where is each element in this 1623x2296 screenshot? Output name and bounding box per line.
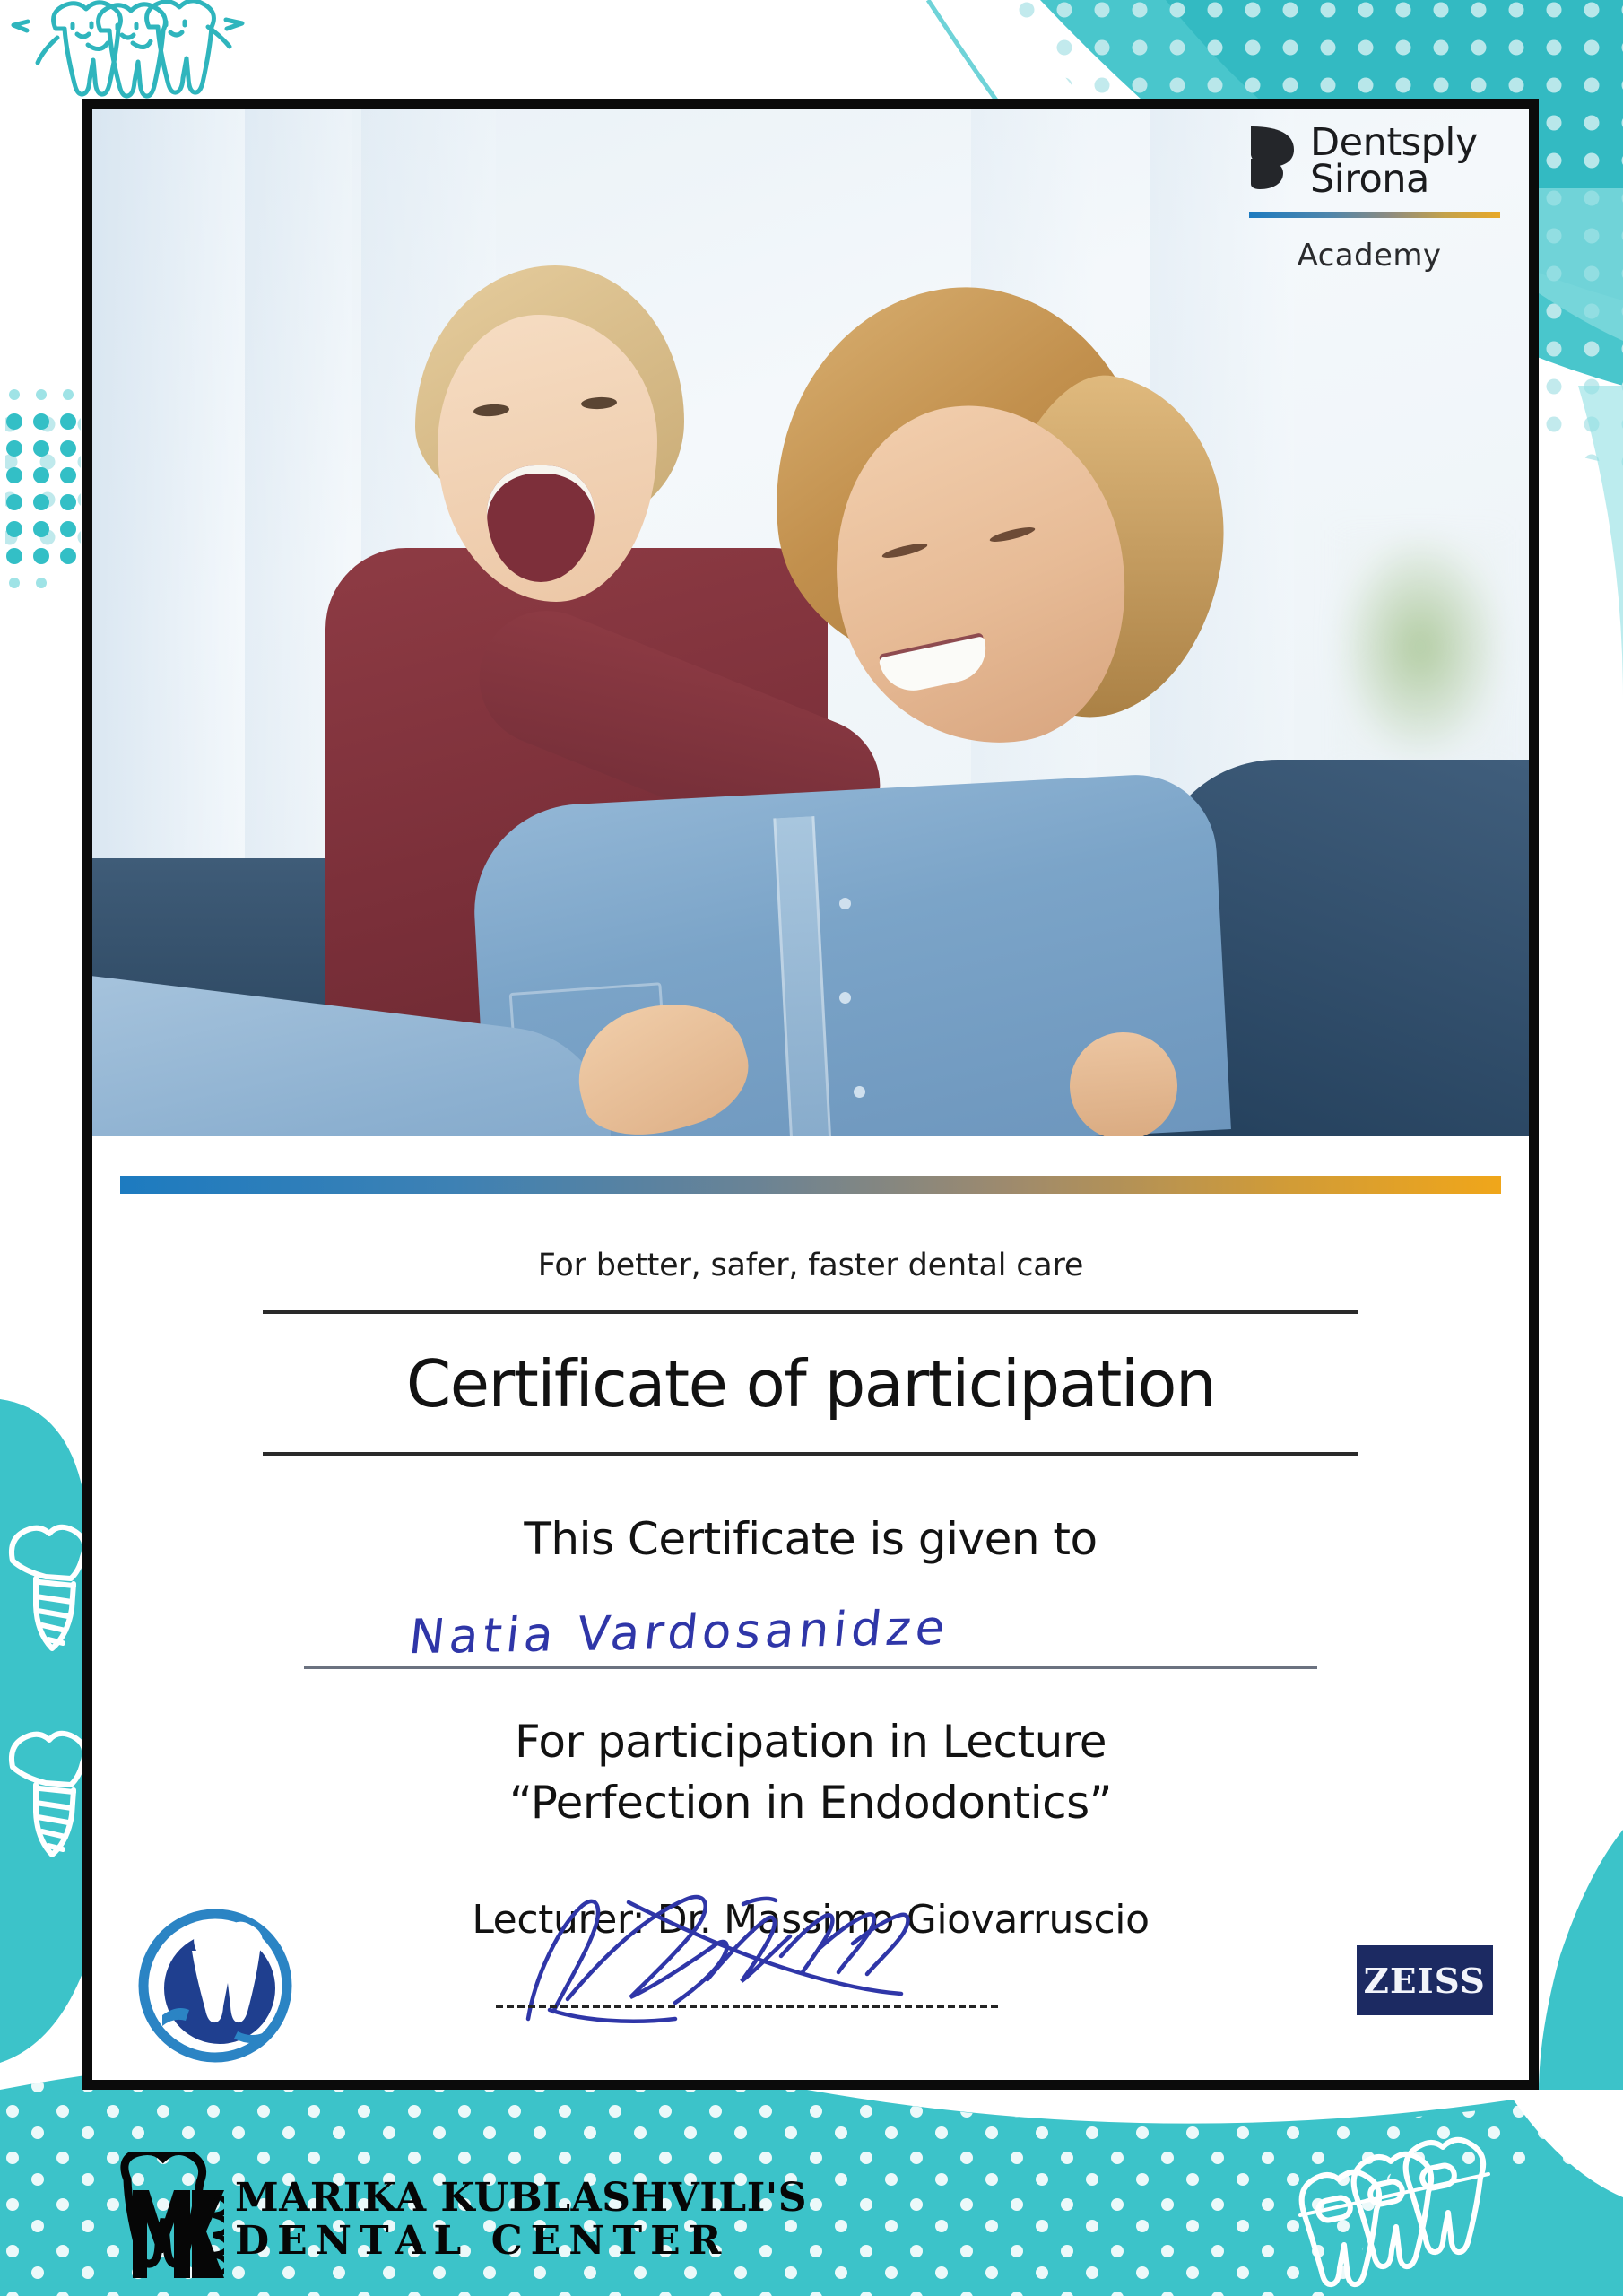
brand-line-1: MARIKA KUBLASHVILI'S [235,2179,807,2218]
gradient-divider-bar [120,1176,1501,1194]
certificate-photo: Dentsply Sirona Academy [92,109,1529,1136]
certificate-body: For better, safer, faster dental care Ce… [92,1194,1529,1943]
zeiss-logo: ZEISS [1357,1945,1493,2015]
lecture-participation-line: For participation in Lecture [92,1716,1529,1768]
brand-line-2: DENTAL CENTER [235,2222,807,2261]
signature-area [496,1893,998,2028]
recipient-name-field: Natia Vardosanidze [304,1596,1317,1669]
dentsply-sirona-mark-icon [1247,125,1298,191]
dental-implant-icon-1 [12,1527,84,1648]
certificate-page: Dentsply Sirona Academy For better, safe… [0,0,1623,2296]
tagline: For better, safer, faster dental care [92,1248,1529,1283]
rule-above-title [263,1310,1358,1314]
recipient-name: Natia Vardosanidze [406,1601,952,1665]
certificate-card: Dentsply Sirona Academy For better, safe… [82,99,1539,2090]
lecture-title: “Perfection in Endodontics” [92,1777,1529,1829]
given-to-label: This Certificate is given to [92,1513,1529,1565]
right-upper-teal-accent [1578,386,1623,700]
dentsply-sirona-logo: Dentsply Sirona Academy [1247,125,1529,274]
three-smiling-teeth-icon [13,1,242,96]
mk-tooth-circle-logo-icon [130,1900,300,2071]
dental-center-footer-brand: MARIKA KUBLASHVILI'S DENTAL CENTER [106,2152,807,2287]
sirona-word: Sirona [1310,161,1478,198]
right-teal-curve [1539,1830,1623,2099]
mk-tooth-logo-icon [106,2152,224,2287]
dentsply-word: Dentsply [1310,125,1478,161]
signature-line [496,2005,998,2008]
recipient-name-line [304,1666,1317,1669]
certificate-title: Certificate of participation [92,1346,1529,1422]
dentsply-gradient-rule [1249,212,1500,218]
academy-label: Academy [1247,238,1491,274]
left-dot-grid-icon [5,389,81,588]
zeiss-wordmark: ZEISS [1364,1961,1486,2001]
dental-implant-icon-2 [12,1734,84,1855]
three-teeth-braces-icon [1300,2140,1488,2284]
left-teal-blob [0,1399,82,2063]
rule-below-title [263,1452,1358,1456]
